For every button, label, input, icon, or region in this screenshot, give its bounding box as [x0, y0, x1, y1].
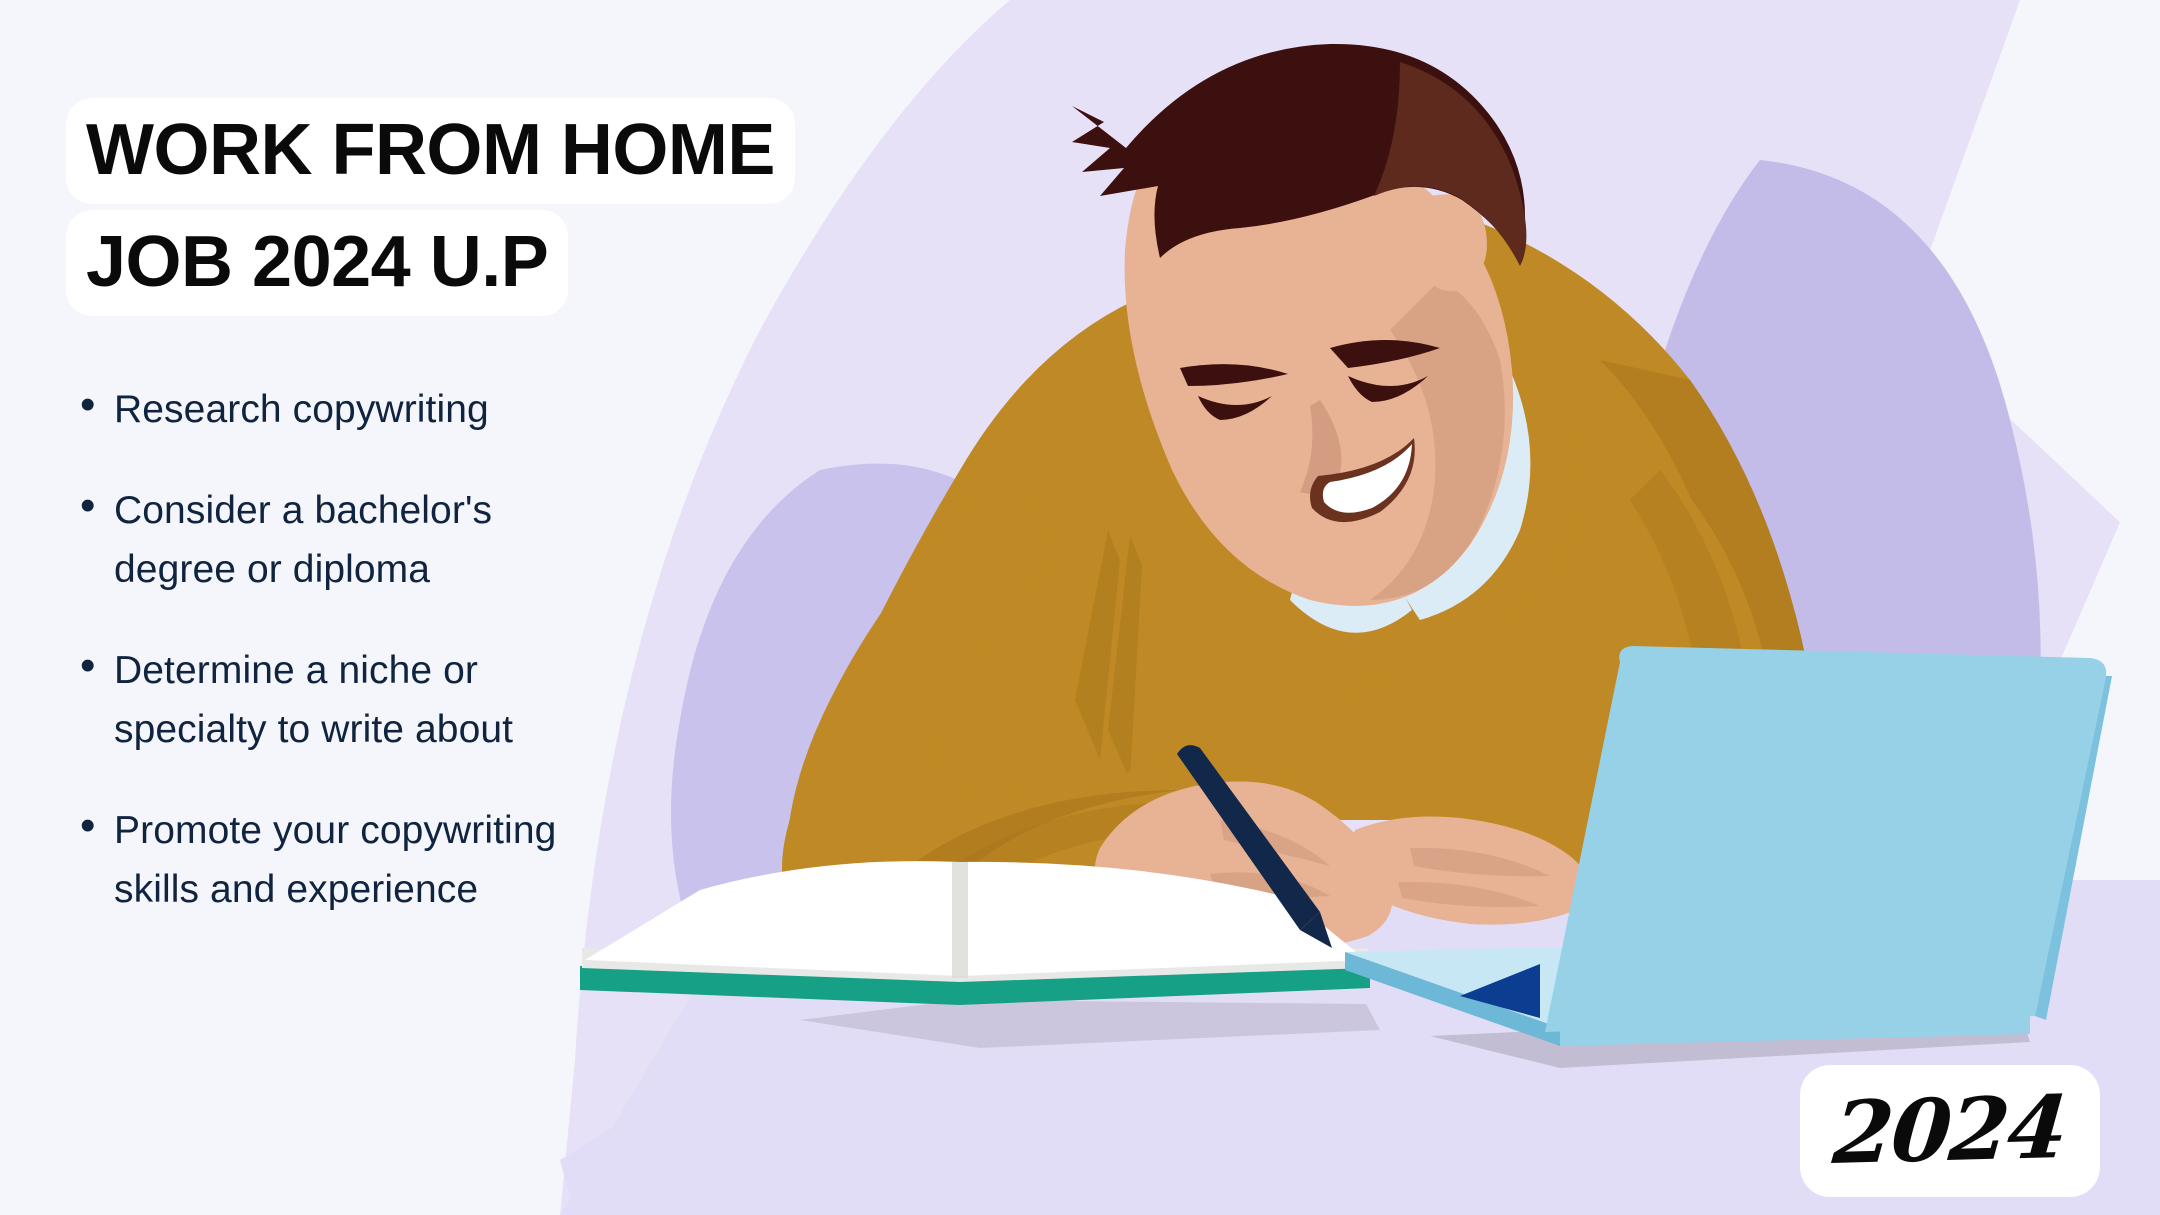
text-column: WORK FROM HOME JOB 2024 U.P • Research c…	[0, 0, 790, 1215]
year-badge-label: 2024	[1831, 1085, 2070, 1177]
list-item-label: Promote your copywriting skills and expe…	[114, 801, 556, 919]
list-item-label: Determine a niche or specialty to write …	[114, 641, 513, 759]
page-title: WORK FROM HOME JOB 2024 U.P	[66, 98, 795, 316]
list-item: • Promote your copywriting skills and ex…	[78, 801, 738, 919]
list-item-label: Research copywriting	[114, 380, 489, 439]
poster-canvas: WORK FROM HOME JOB 2024 U.P • Research c…	[0, 0, 2160, 1215]
laptop-lid	[1545, 646, 2106, 1032]
list-item: • Research copywriting	[78, 380, 738, 439]
list-item: • Determine a niche or specialty to writ…	[78, 641, 738, 759]
notebook-page-crease	[952, 862, 968, 978]
bullet-marker-icon: •	[78, 380, 114, 430]
title-line-2: JOB 2024 U.P	[66, 210, 568, 316]
bullet-marker-icon: •	[78, 641, 114, 691]
bullet-marker-icon: •	[78, 801, 114, 851]
year-badge: 2024	[1800, 1065, 2100, 1197]
notebook-shadow	[800, 1000, 1380, 1048]
list-item: • Consider a bachelor's degree or diplom…	[78, 481, 738, 599]
title-line-1: WORK FROM HOME	[66, 98, 795, 204]
bullet-marker-icon: •	[78, 481, 114, 531]
bullet-list: • Research copywriting • Consider a bach…	[78, 380, 738, 961]
list-item-label: Consider a bachelor's degree or diploma	[114, 481, 492, 599]
